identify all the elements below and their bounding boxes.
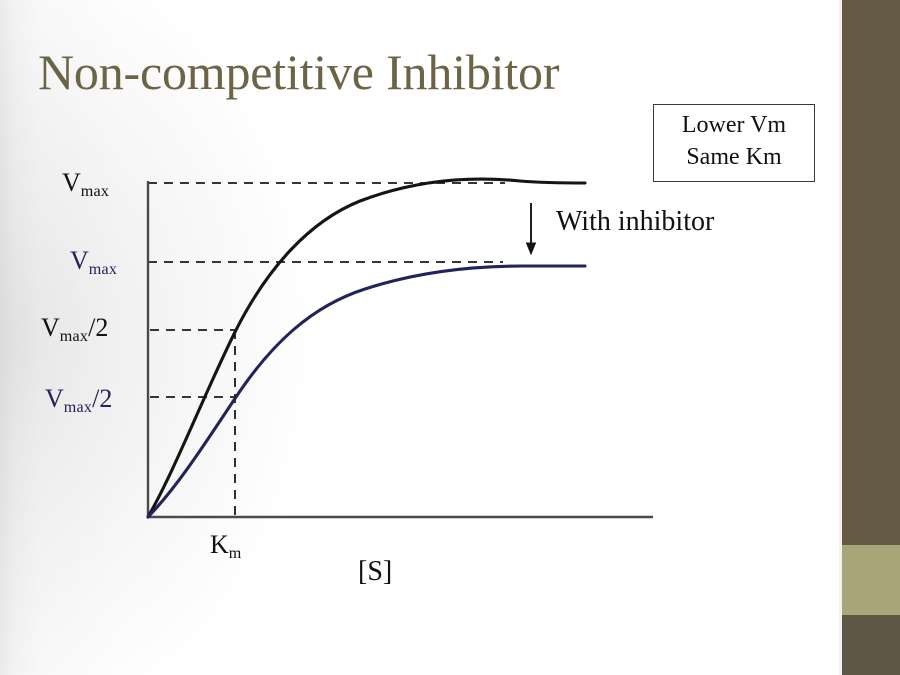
michaelis-menten-chart [0, 0, 900, 675]
axis-label-vmax-uninhibited: Vmax [62, 170, 109, 196]
axis-label-halfvmax-uninhibited: Vmax/2 [41, 315, 108, 341]
axis-label-km: Km [210, 532, 242, 558]
annotation-with-inhibitor: With inhibitor [556, 208, 714, 236]
slide: Non-competitive Inhibitor Lower Vm Same … [0, 0, 900, 675]
subscript-max: max [60, 328, 88, 345]
axis-label-halfvmax-inhibited: Vmax/2 [45, 386, 112, 412]
x-axis-title: [S] [358, 558, 392, 586]
subscript-m: m [229, 545, 242, 562]
subscript-max: max [89, 261, 117, 278]
curve-no-inhibitor [148, 179, 585, 517]
subscript-max: max [64, 399, 92, 416]
curve-with-inhibitor [148, 266, 585, 517]
arrow-down-icon [527, 203, 536, 254]
subscript-max: max [81, 183, 109, 200]
axis-label-vmax-inhibited: Vmax [70, 248, 117, 274]
